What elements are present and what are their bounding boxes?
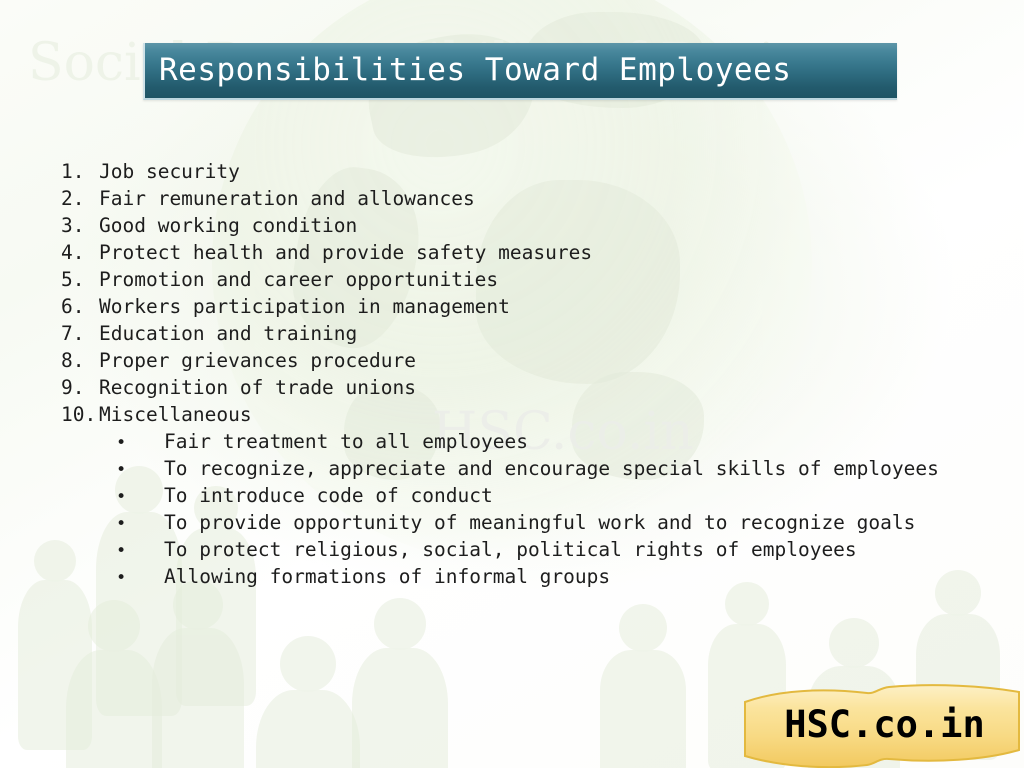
bullet-marker-icon: • (116, 511, 164, 538)
list-item: •Fair treatment to all employees (0, 428, 1024, 455)
list-item-label: To introduce code of conduct (164, 482, 493, 509)
list-item: •To protect religious, social, political… (0, 536, 1024, 563)
list-item-number: 7. (61, 320, 99, 347)
list-item: •To introduce code of conduct (0, 482, 1024, 509)
bullet-marker-icon: • (116, 565, 164, 592)
numbered-list: 1.Job security2.Fair remuneration and al… (0, 158, 1024, 428)
list-item-label: Workers participation in management (99, 293, 510, 320)
list-item: •To recognize, appreciate and encourage … (0, 455, 1024, 482)
list-item-label: To protect religious, social, political … (164, 536, 857, 563)
bullet-marker-icon: • (116, 538, 164, 565)
list-item: 5.Promotion and career opportunities (0, 266, 1024, 293)
list-item-number: 8. (61, 347, 99, 374)
list-item-number: 6. (61, 293, 99, 320)
list-item: 3.Good working condition (0, 212, 1024, 239)
list-item: 8.Proper grievances procedure (0, 347, 1024, 374)
list-item: •Allowing formations of informal groups (0, 563, 1024, 590)
bullet-marker-icon: • (116, 484, 164, 511)
hsc-logo-label: HSC.co.in (739, 680, 1024, 768)
list-item-label: Good working condition (99, 212, 357, 239)
list-item-label: Job security (99, 158, 240, 185)
list-item-number: 9. (61, 374, 99, 401)
list-item: 2.Fair remuneration and allowances (0, 185, 1024, 212)
list-item-label: Education and training (99, 320, 357, 347)
bullet-marker-icon: • (116, 457, 164, 484)
list-item-number: 10. (61, 401, 99, 428)
page-title: Responsibilities Toward Employees (145, 55, 791, 86)
list-item-number: 3. (61, 212, 99, 239)
list-item: 4.Protect health and provide safety meas… (0, 239, 1024, 266)
list-item-number: 4. (61, 239, 99, 266)
list-item: 10.Miscellaneous (0, 401, 1024, 428)
list-item: •To provide opportunity of meaningful wo… (0, 509, 1024, 536)
list-item: 9.Recognition of trade unions (0, 374, 1024, 401)
hsc-logo-banner[interactable]: HSC.co.in (739, 680, 1024, 768)
list-item: 7.Education and training (0, 320, 1024, 347)
list-item-number: 1. (61, 158, 99, 185)
list-item-number: 5. (61, 266, 99, 293)
slide-title-bar: Responsibilities Toward Employees (143, 43, 897, 100)
list-item-number: 2. (61, 185, 99, 212)
bullet-marker-icon: • (116, 430, 164, 457)
list-item-label: Fair remuneration and allowances (99, 185, 475, 212)
list-item: 1.Job security (0, 158, 1024, 185)
bullet-list: •Fair treatment to all employees•To reco… (0, 428, 1024, 590)
list-item-label: Proper grievances procedure (99, 347, 416, 374)
list-item-label: Promotion and career opportunities (99, 266, 498, 293)
list-item: 6.Workers participation in management (0, 293, 1024, 320)
list-item-label: To provide opportunity of meaningful wor… (164, 509, 915, 536)
slide-canvas: Social Responsibility of Business HSC.co… (0, 0, 1024, 768)
list-item-label: Fair treatment to all employees (164, 428, 528, 455)
list-item-label: Allowing formations of informal groups (164, 563, 610, 590)
list-item-label: Recognition of trade unions (99, 374, 416, 401)
list-item-label: Protect health and provide safety measur… (99, 239, 592, 266)
slide-content: 1.Job security2.Fair remuneration and al… (0, 158, 1024, 590)
list-item-label: To recognize, appreciate and encourage s… (164, 455, 939, 482)
list-item-label: Miscellaneous (99, 401, 252, 428)
